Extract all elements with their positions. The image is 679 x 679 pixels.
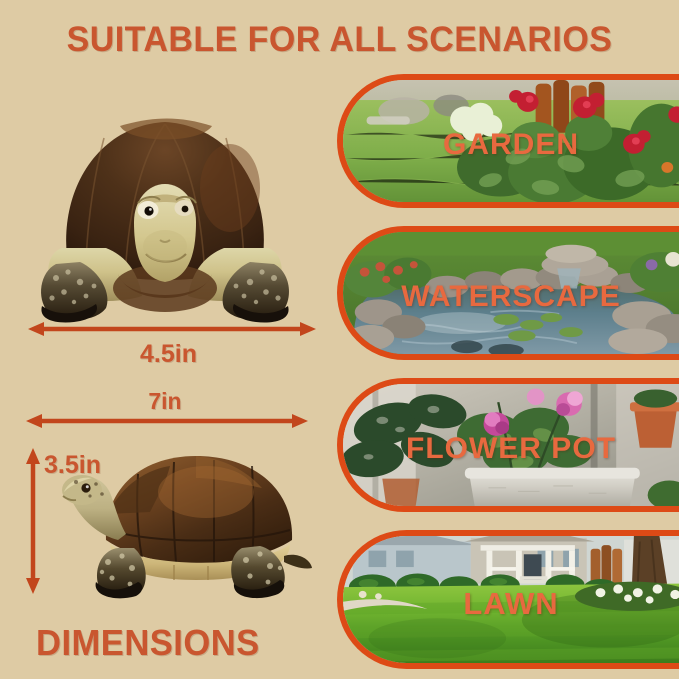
scene-card-lawn[interactable]: LAWN [337,530,679,669]
dimensions-section-label: DIMENSIONS [36,622,260,664]
scene-card-flower-pot[interactable]: FLOWER POT [337,378,679,512]
product-infographic: SUITABLE FOR ALL SCENARIOS [0,0,679,679]
width-arrow-4-5in [28,318,316,340]
page-title: SUITABLE FOR ALL SCENARIOS [10,20,669,60]
scene-cards-list: GARDEN [337,74,679,671]
scene-card-label-flower-pot: FLOWER POT [343,432,679,466]
scene-card-garden[interactable]: GARDEN [337,74,679,208]
scene-card-label-garden: GARDEN [343,128,679,162]
tortoise-front-view-image [34,96,296,324]
width-arrow-7in [26,410,308,432]
dimensions-panel: 4.5in 7in 3.5in [0,72,337,679]
height-arrow-3-5in [22,448,44,594]
width-measure-label-front: 4.5in [0,340,337,369]
scene-card-waterscape[interactable]: WATERSCAPE [337,226,679,360]
tortoise-side-view-image [46,444,318,602]
scene-card-label-lawn: LAWN [343,586,679,622]
scene-card-label-waterscape: WATERSCAPE [343,280,679,314]
